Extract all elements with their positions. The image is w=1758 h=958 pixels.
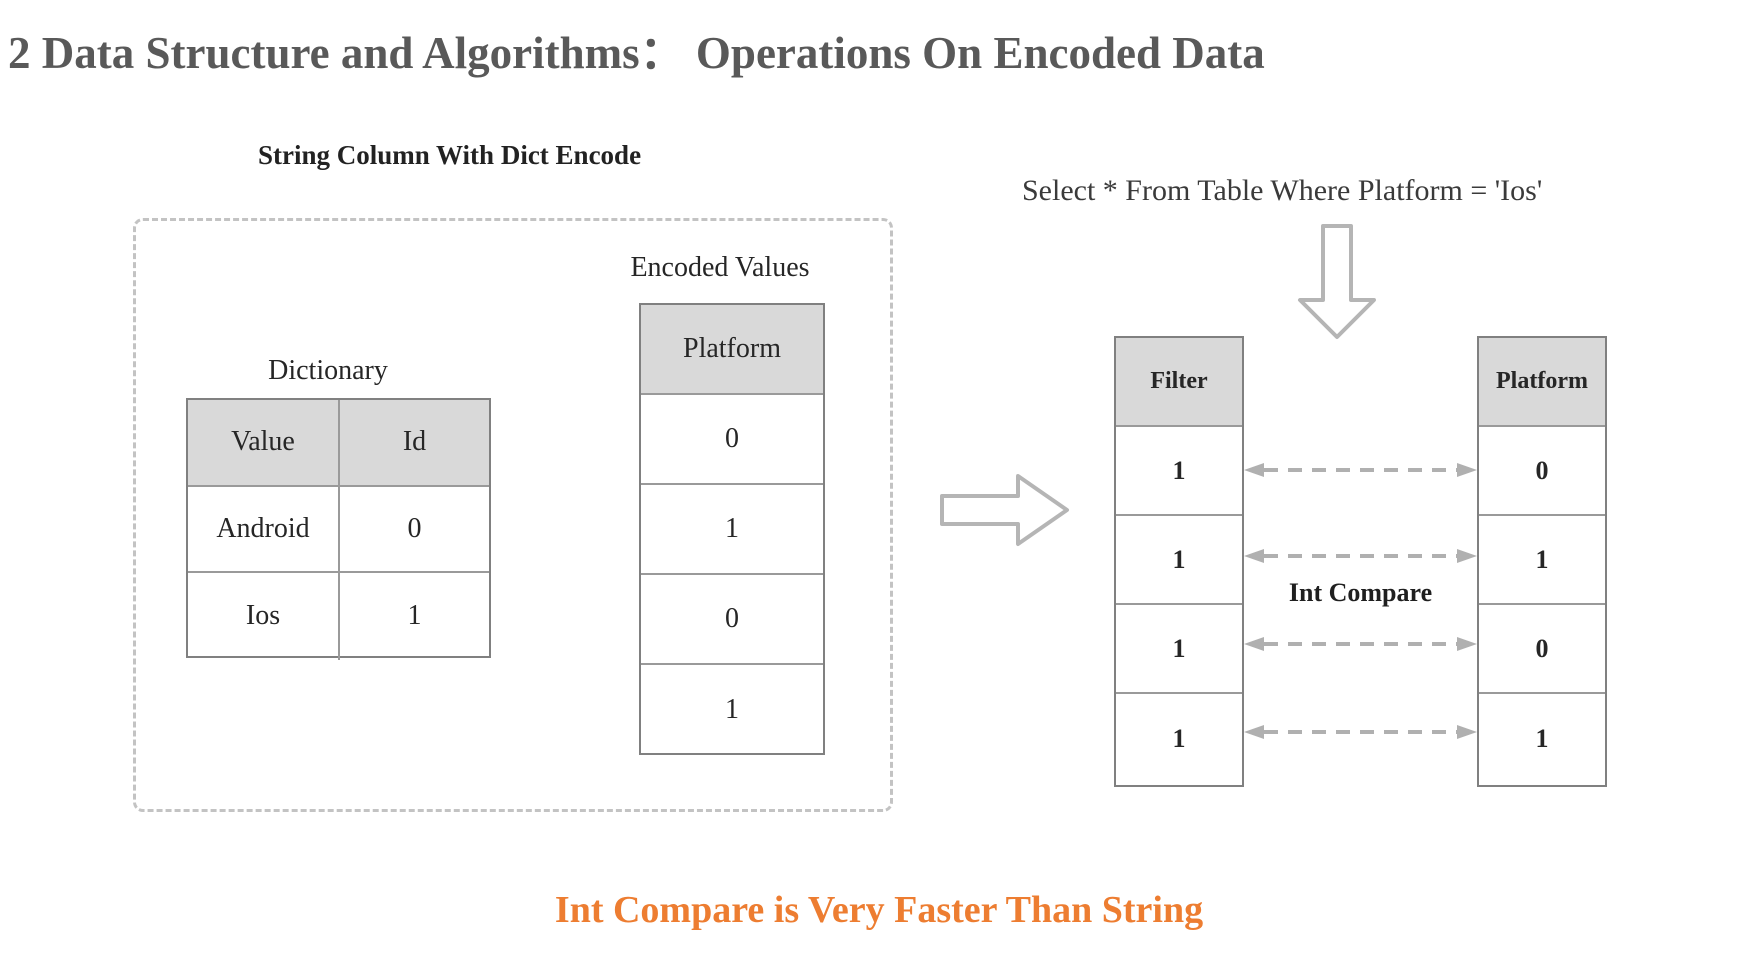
table-row: 1 [1116, 427, 1242, 516]
dictionary-table: Value Id Android 0 Ios 1 [186, 398, 491, 658]
right-block-arrow-icon [940, 470, 1070, 555]
cell-encoded-value: 0 [641, 395, 823, 483]
dashed-double-arrow-icon [1244, 548, 1477, 564]
column-header-id: Id [340, 400, 489, 485]
dashed-double-arrow-icon [1244, 636, 1477, 652]
cell-platform-value: 1 [1479, 516, 1605, 603]
cell-value: Ios [188, 573, 340, 660]
table-row: 0 [1479, 427, 1605, 516]
cell-platform-value: 0 [1479, 427, 1605, 514]
dashed-double-arrow-icon [1244, 462, 1477, 478]
dashed-double-arrow-icon [1244, 724, 1477, 740]
table-row: 0 [641, 395, 823, 485]
cell-filter-value: 1 [1116, 427, 1242, 514]
table-header-row: Platform [641, 305, 823, 395]
page-title: 2 Data Structure and Algorithms： Operati… [8, 16, 1708, 81]
cell-id: 0 [340, 487, 489, 572]
cell-encoded-value: 1 [641, 485, 823, 573]
cell-filter-value: 1 [1116, 516, 1242, 603]
table-header-row: Filter [1116, 338, 1242, 427]
left-panel-heading: String Column With Dict Encode [258, 140, 641, 171]
filter-table: Filter 1 1 1 1 [1114, 336, 1244, 787]
encoded-values-table: Platform 0 1 0 1 [639, 303, 825, 755]
table-row: 1 [1116, 605, 1242, 694]
encoded-values-caption: Encoded Values [560, 252, 880, 284]
platform-result-table: Platform 0 1 0 1 [1477, 336, 1607, 787]
table-row: 1 [1479, 516, 1605, 605]
column-header-platform: Platform [1479, 338, 1605, 425]
table-row: 1 [1116, 516, 1242, 605]
cell-filter-value: 1 [1116, 605, 1242, 692]
table-row: Ios 1 [188, 573, 489, 660]
cell-id: 1 [340, 573, 489, 660]
int-compare-label: Int Compare [1244, 578, 1477, 608]
column-header-filter: Filter [1116, 338, 1242, 425]
cell-encoded-value: 0 [641, 575, 823, 663]
cell-filter-value: 1 [1116, 694, 1242, 783]
column-header-platform: Platform [641, 305, 823, 393]
sql-query-text: Select * From Table Where Platform = 'Io… [1022, 174, 1542, 208]
cell-value: Android [188, 487, 340, 572]
cell-platform-value: 1 [1479, 694, 1605, 783]
table-row: 1 [1116, 694, 1242, 783]
table-row: Android 0 [188, 487, 489, 574]
cell-platform-value: 0 [1479, 605, 1605, 692]
table-header-row: Platform [1479, 338, 1605, 427]
footer-callout: Int Compare is Very Faster Than String [0, 888, 1758, 932]
down-block-arrow-icon [1296, 224, 1378, 345]
table-row: 0 [1479, 605, 1605, 694]
column-header-value: Value [188, 400, 340, 485]
table-row: 1 [1479, 694, 1605, 783]
cell-encoded-value: 1 [641, 665, 823, 755]
dictionary-caption: Dictionary [178, 355, 478, 387]
table-row: 0 [641, 575, 823, 665]
table-row: 1 [641, 665, 823, 755]
table-row: 1 [641, 485, 823, 575]
table-header-row: Value Id [188, 400, 489, 487]
